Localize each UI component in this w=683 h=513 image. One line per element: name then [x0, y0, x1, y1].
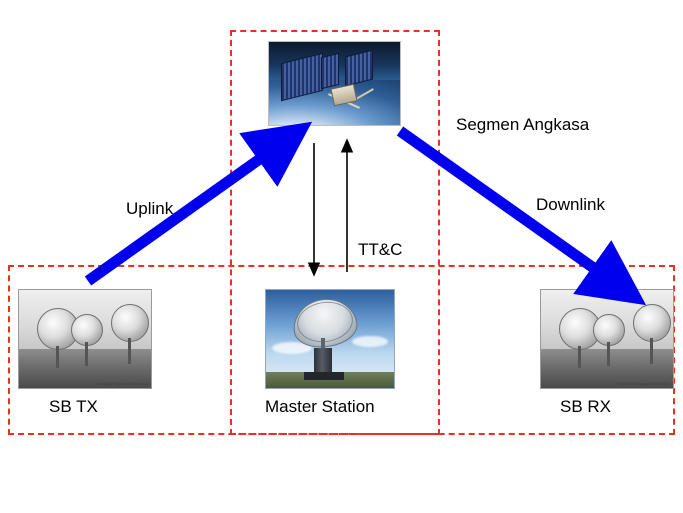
sb-rx-photo: Courtesy of satellite photo archive [540, 289, 674, 389]
satellite-photo [268, 41, 401, 126]
antenna-dish-icon [111, 304, 149, 342]
diagram-canvas: Courtesy of satellite photo archive Cour… [0, 0, 683, 513]
photo-credit: Courtesy of satellite photo archive [618, 382, 670, 386]
solar-panel-icon [321, 53, 339, 89]
master-station-photo [265, 289, 395, 389]
label-downlink: Downlink [536, 195, 605, 215]
antenna-mast [85, 342, 88, 366]
cloud-shape [352, 336, 388, 347]
dish-base [304, 372, 344, 380]
label-sb-rx: SB RX [560, 397, 611, 417]
label-uplink: Uplink [126, 199, 173, 219]
photo-credit: Courtesy of satellite photo archive [96, 382, 148, 386]
antenna-mast [56, 346, 59, 368]
label-segmen-angkasa: Segmen Angkasa [456, 115, 589, 135]
antenna-mast [650, 338, 653, 364]
antenna-mast [578, 346, 581, 368]
antenna-mast [128, 338, 131, 364]
sb-tx-photo: Courtesy of satellite photo archive [18, 289, 152, 389]
antenna-dish-icon [633, 304, 671, 342]
label-ttc: TT&C [358, 240, 402, 260]
label-sb-tx: SB TX [49, 397, 98, 417]
antenna-mast [607, 342, 610, 366]
label-master-station: Master Station [265, 397, 375, 417]
